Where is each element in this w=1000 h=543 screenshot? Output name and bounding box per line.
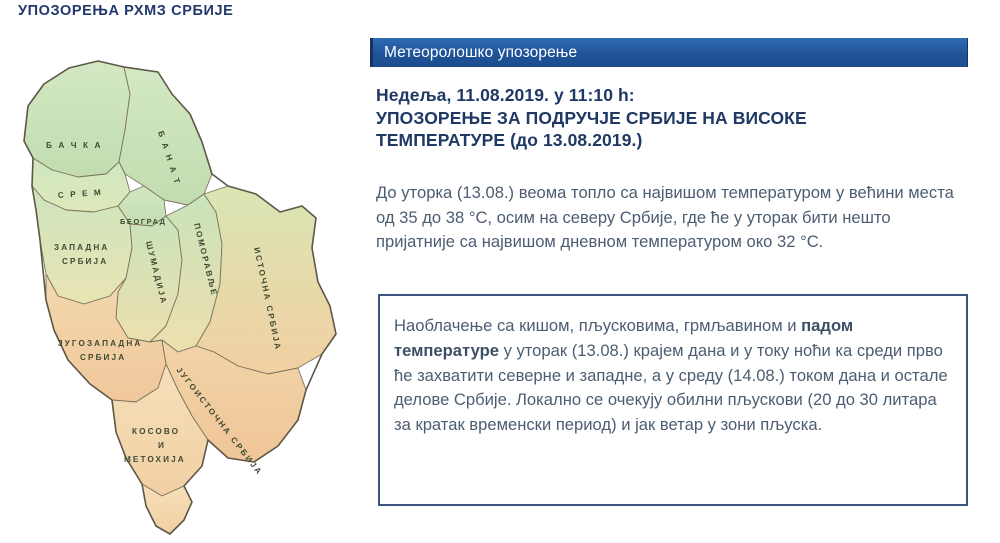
map-label-kosovo: КОСОВО: [132, 427, 180, 436]
map-label-zapadna-srbija-line2: СРБИЈА: [62, 257, 108, 266]
warning-body-text: До уторка (13.08.) веома топло са највиш…: [376, 181, 972, 255]
warning-bar-label: Метеоролошко упозорење: [373, 44, 577, 62]
warning-title-line-2: УПОЗОРЕЊЕ ЗА ПОДРУЧЈЕ СРБИЈЕ НА ВИСОКЕ: [376, 107, 956, 130]
map-label-kosovo-and: И: [158, 441, 166, 450]
map-of-serbia-regions: Б А Ч К А Б А Н А Т С Р Е М БЕОГРАД ЗАПА…: [6, 34, 358, 543]
meteorological-warning-panel: Метеоролошко упозорење Недеља, 11.08.201…: [370, 0, 990, 543]
warning-bar: Метеоролошко упозорење: [370, 38, 968, 67]
map-label-jugozapadna-srbija: ЈУГОЗАПАДНА: [58, 339, 142, 348]
warning-title-line-1: Недеља, 11.08.2019. у 11:10 h:: [376, 84, 956, 107]
warning-detail-box: Наоблачење са кишом, пљусковима, грмљави…: [378, 294, 968, 506]
page-title: УПОЗОРЕЊА РХМЗ СРБИЈЕ: [18, 3, 233, 19]
warning-title-line-3: ТЕМПЕРАТУРЕ (до 13.08.2019.): [376, 129, 956, 152]
warning-title: Недеља, 11.08.2019. у 11:10 h: УПОЗОРЕЊЕ…: [376, 84, 956, 152]
map-label-metohija: МЕТОХИЈА: [124, 455, 186, 464]
map-label-beograd: БЕОГРАД: [120, 217, 167, 226]
warning-detail-text: Наоблачење са кишом, пљусковима, грмљави…: [394, 314, 954, 438]
region-backa: [24, 61, 130, 177]
warning-detail-part1: Наоблачење са кишом, пљусковима, грмљави…: [394, 316, 801, 335]
map-label-backa: Б А Ч К А: [46, 141, 102, 150]
map-label-jugozapadna-srbija-line2: СРБИЈА: [80, 353, 126, 362]
map-label-zapadna-srbija: ЗАПАДНА: [54, 243, 109, 252]
serbia-map-svg: Б А Ч К А Б А Н А Т С Р Е М БЕОГРАД ЗАПА…: [6, 34, 358, 543]
